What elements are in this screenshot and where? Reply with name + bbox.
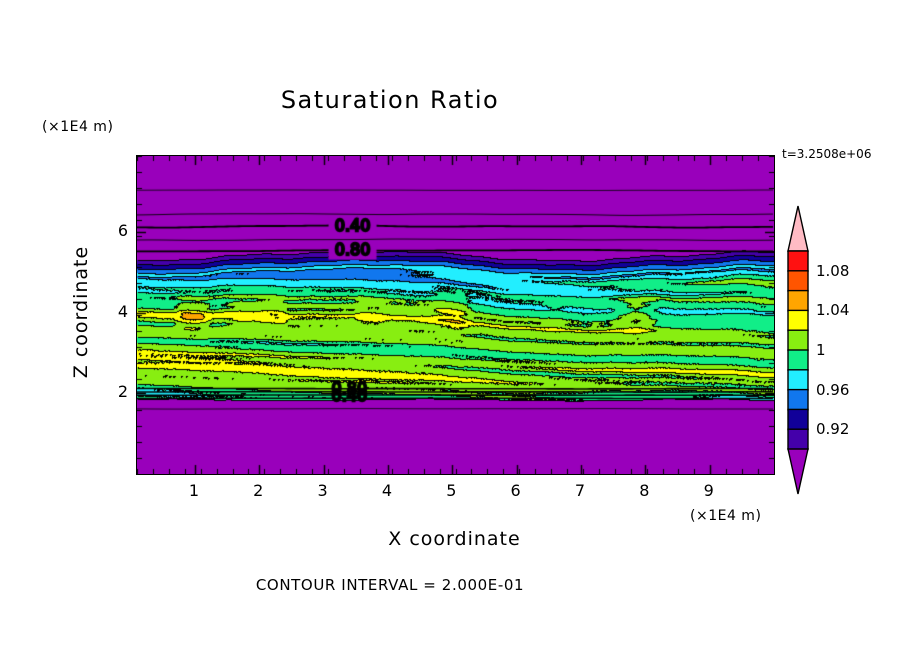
- timestamp-label: t=3.2508e+06: [782, 147, 871, 161]
- x-axis-title: X coordinate: [136, 528, 773, 550]
- colorbar-segment[interactable]: [788, 429, 808, 449]
- colorbar-segment[interactable]: [788, 330, 808, 350]
- contour-field-canvas: [137, 156, 774, 474]
- colorbar-segment[interactable]: [788, 271, 808, 291]
- colorbar-segment[interactable]: [788, 409, 808, 429]
- y-tick-label: 4: [104, 302, 128, 321]
- page-title: Saturation Ratio: [0, 86, 780, 114]
- x-tick-label: 2: [246, 481, 270, 500]
- colorbar-over-arrow: [788, 206, 808, 251]
- colorbar-segment[interactable]: [788, 350, 808, 370]
- y-axis-title-text: Z coordinate: [70, 232, 92, 392]
- y-axis-title: Z coordinate: [48, 72, 70, 232]
- x-tick-label: 4: [375, 481, 399, 500]
- colorbar-segment[interactable]: [788, 251, 808, 271]
- colorbar-segment[interactable]: [788, 370, 808, 390]
- colorbar-segment[interactable]: [788, 291, 808, 311]
- colorbar-tick-label: 1.08: [816, 262, 849, 280]
- colorbar-under-arrow: [788, 449, 808, 494]
- y-tick-label: 6: [104, 221, 128, 240]
- x-tick-label: 5: [439, 481, 463, 500]
- x-tick-label: 1: [182, 481, 206, 500]
- x-axis-unit-label: (×1E4 m): [690, 508, 761, 524]
- contour-interval-note: CONTOUR INTERVAL = 2.000E-01: [0, 576, 780, 594]
- contour-plot-area[interactable]: [136, 155, 775, 475]
- colorbar-tick-label: 0.92: [816, 420, 849, 438]
- colorbar-tick-label: 0.96: [816, 381, 849, 399]
- colorbar-tick-label: 1.04: [816, 301, 849, 319]
- x-tick-label: 6: [504, 481, 528, 500]
- x-tick-label: 3: [311, 481, 335, 500]
- colorbar-tick-label: 1: [816, 341, 826, 359]
- x-tick-label: 7: [568, 481, 592, 500]
- colorbar[interactable]: [786, 205, 812, 495]
- x-tick-label: 9: [697, 481, 721, 500]
- colorbar-segment[interactable]: [788, 310, 808, 330]
- x-tick-label: 8: [632, 481, 656, 500]
- colorbar-svg: [786, 205, 812, 495]
- y-tick-label: 2: [104, 382, 128, 401]
- colorbar-segment[interactable]: [788, 390, 808, 410]
